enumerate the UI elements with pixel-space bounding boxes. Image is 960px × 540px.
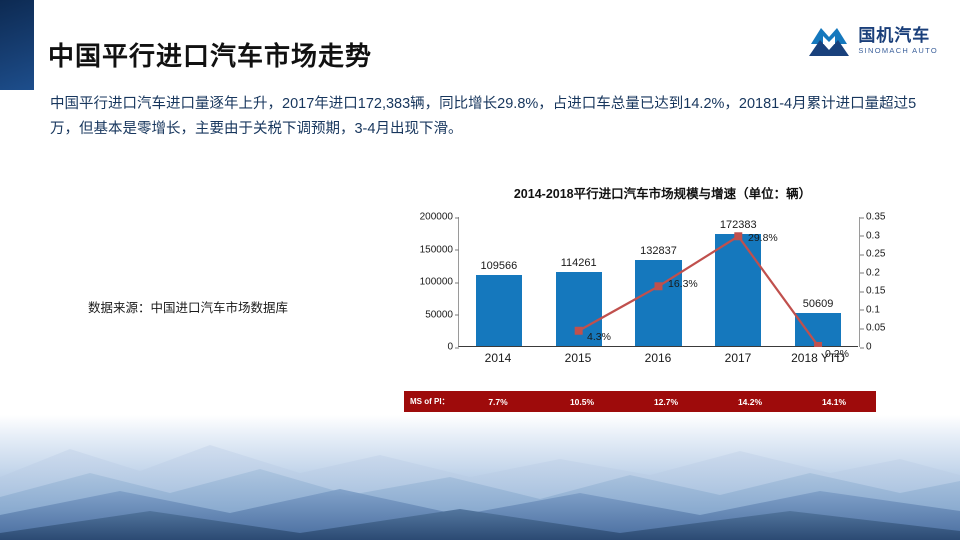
y-tick-right: 0.15 [866,286,885,297]
bar-column: 114261 [539,217,619,346]
bar-series: 10956611426113283717238350609 [459,217,858,346]
data-source-note: 数据来源：中国进口汽车市场数据库 [88,297,288,316]
ms-of-pi-cell: 14.1% [792,397,876,407]
y-tick-left: 50000 [425,309,459,320]
y-tick-right: 0.25 [866,249,885,260]
x-axis-label: 2016 [618,351,698,365]
y-tick-right: 0.05 [866,323,885,334]
ms-of-pi-cell: 14.2% [708,397,792,407]
y-tick-left: 200000 [420,212,459,223]
y-tick-right: 0.2 [866,267,880,278]
y-tick-right: 0 [866,342,872,353]
mountain-ridges-graphic [0,415,960,540]
x-axis-label: 2015 [538,351,618,365]
y-tick-right: 0.1 [866,304,880,315]
bar-value-label: 172383 [720,219,757,231]
y-tick-right: 0.35 [866,212,885,223]
x-axis-label: 2017 [698,351,778,365]
x-axis-label: 2014 [458,351,538,365]
bar-value-label: 114261 [561,257,597,269]
growth-pct-label: 16.3% [668,278,698,290]
bar-column: 50609 [778,217,858,346]
logo-name-en: SINOMACH AUTO [858,47,938,55]
bar [715,234,761,346]
bar-value-label: 132837 [640,245,677,257]
y-tick-right: 0.3 [866,230,880,241]
chart-title: 2014-2018平行进口汽车市场规模与增速（单位：辆） [400,183,925,202]
ms-of-pi-cell: 7.7% [456,397,540,407]
bar [476,275,522,346]
bar [795,313,841,346]
page-title: 中国平行进口汽车市场走势 [48,36,372,73]
y-tick-left: 100000 [420,277,459,288]
right-axis: 00.050.10.150.20.250.30.35 [859,217,860,347]
bar-value-label: 109566 [481,260,518,272]
x-axis-labels: 20142015201620172018 YTD [458,351,858,365]
ms-of-pi-cell: 10.5% [540,397,624,407]
bar-value-label: 50609 [803,298,834,310]
x-axis-label: 2018 YTD [778,351,858,365]
growth-pct-label: 4.3% [587,331,611,343]
mountain-logo-icon [807,24,851,58]
logo-name-cn: 国机汽车 [858,27,938,44]
y-tick-left: 150000 [420,244,459,255]
ms-of-pi-cell: 12.7% [624,397,708,407]
growth-pct-label: 29.8% [748,232,778,244]
ms-of-pi-row: MS of PI： 7.7% 10.5% 12.7% 14.2% 14.1% [404,391,876,412]
corner-accent-wedge [0,0,34,90]
company-logo: 国机汽车 SINOMACH AUTO [807,24,938,58]
footer-decoration: TOP100 2018中国汽车经销商集团百强排行榜 LIST OF CHINA … [0,415,960,540]
ms-of-pi-label: MS of PI： [404,396,456,407]
bar-column: 109566 [459,217,539,346]
summary-paragraph: 中国平行进口汽车进口量逐年上升，2017年进口172,383辆，同比增长29.8… [50,92,930,143]
chart-plot-area: 10956611426113283717238350609 4.3%16.3%2… [458,217,858,347]
market-trend-chart: 2014-2018平行进口汽车市场规模与增速（单位：辆） 10956611426… [400,183,925,418]
bar [635,260,681,346]
